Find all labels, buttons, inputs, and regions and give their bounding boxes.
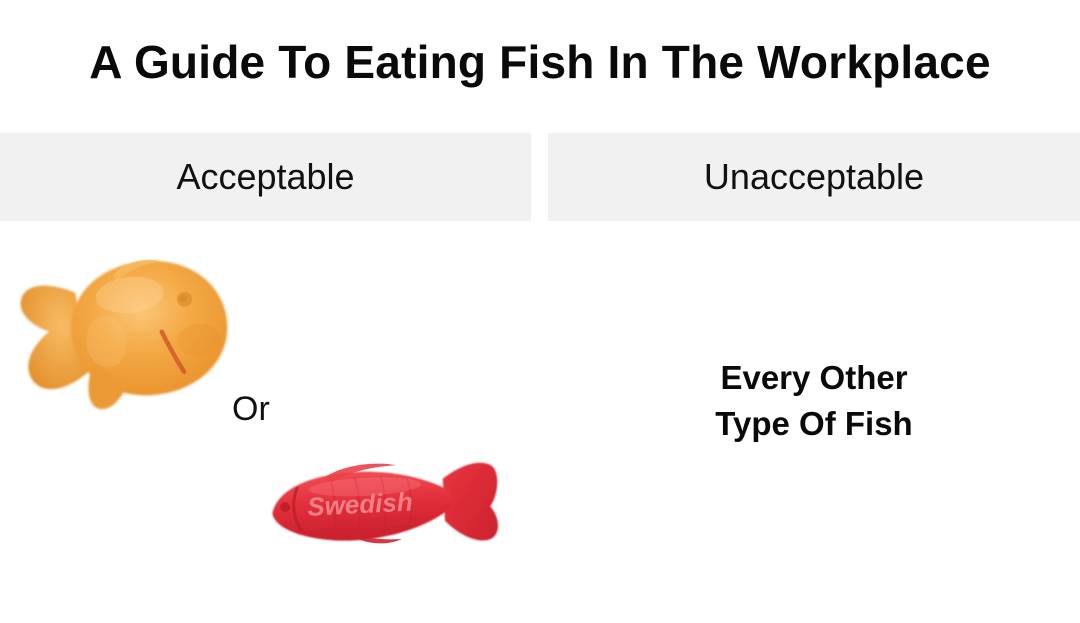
goldfish-cracker-image xyxy=(2,244,242,420)
swedish-fish-image: Swedish xyxy=(258,446,506,562)
column-header-unacceptable-label: Unacceptable xyxy=(704,159,924,195)
unacceptable-body-text: Every Other Type Of Fish xyxy=(548,355,1080,447)
page-title: A Guide To Eating Fish In The Workplace xyxy=(0,34,1080,90)
unacceptable-body-line-1: Every Other xyxy=(548,355,1080,401)
unacceptable-body-line-2: Type Of Fish xyxy=(548,401,1080,447)
column-header-acceptable: Acceptable xyxy=(0,133,531,221)
column-header-acceptable-label: Acceptable xyxy=(176,159,354,195)
meme-canvas: A Guide To Eating Fish In The Workplace … xyxy=(0,0,1080,623)
or-connector-label: Or xyxy=(232,392,270,426)
column-header-unacceptable: Unacceptable xyxy=(548,133,1080,221)
